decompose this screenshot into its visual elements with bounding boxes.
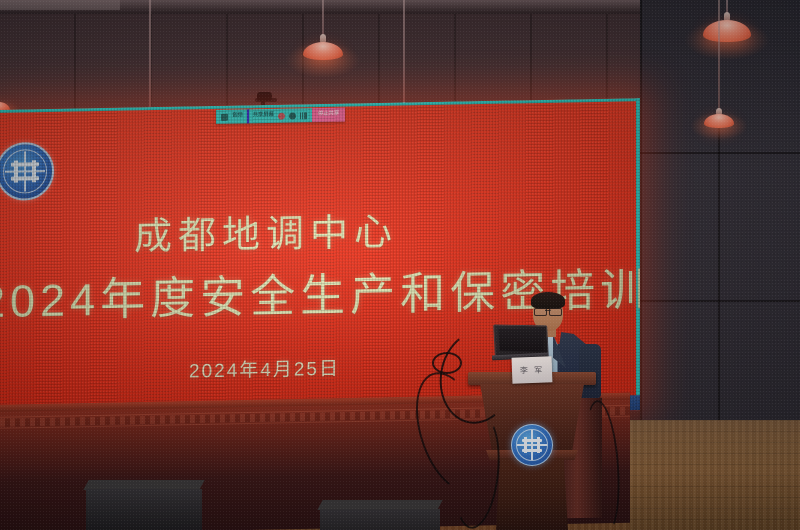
emblem-bar-upper [522,439,542,442]
logo-bar-lower [11,176,39,181]
floor-monitor-speaker [86,480,202,522]
monitor-face [320,509,440,530]
toolbar-divider [247,109,249,123]
right-wall-seam [640,152,800,154]
glasses-icon [534,308,562,314]
share-toolbar-item-label: 共享屏幕 [253,113,274,119]
slide-date: 2024年4月25日 [189,354,340,384]
share-toolbar-main[interactable]: 音频 共享屏幕 [216,108,312,124]
stop-sharing-label: 停止共享 [318,112,339,118]
name-card-text: 李 军 [520,364,545,376]
lamp-cord [149,0,151,118]
lamp-cord [718,0,720,112]
right-wall-seam [640,0,642,430]
pendant-lamp [300,0,346,62]
logo-globe-vertical [24,151,26,191]
podium-emblem-icon [511,424,553,466]
speaker-hair [531,292,565,309]
emblem-globe-vertical [531,430,533,460]
right-wall-seam [640,300,800,302]
slide-title-line1: 成都地调中心 [134,201,398,261]
record-dot-icon[interactable] [278,112,285,119]
emblem-bar-lower [522,449,542,452]
photo-scene: 音频 共享屏幕 停止共享 成都地调中心 2024年度安全生产和保密培训 2024… [0,0,800,530]
monitor-face [86,489,202,530]
speaker-icon[interactable] [221,113,228,120]
gear-icon[interactable] [289,112,296,119]
signal-bars-icon[interactable] [300,112,307,119]
organization-logo-icon [0,142,54,201]
podium-base [496,458,568,530]
share-toolbar-item-label: 音频 [232,114,243,120]
lamp-shade [704,114,734,128]
lamp-shade [303,42,343,60]
floor-monitor-speaker [320,500,440,530]
stop-sharing-button[interactable]: 停止共享 [312,108,345,123]
screen-share-toolbar[interactable]: 音频 共享屏幕 停止共享 [216,108,345,124]
glasses-lens-right [549,308,562,316]
logo-bar-upper [11,162,39,167]
speaker-name-card: 李 军 [512,356,553,383]
ceiling-strip-left [0,0,120,10]
pendant-lamp [0,0,12,118]
pendant-lamp [702,0,736,146]
lamp-cord [403,0,405,108]
cable-coil [432,352,462,374]
